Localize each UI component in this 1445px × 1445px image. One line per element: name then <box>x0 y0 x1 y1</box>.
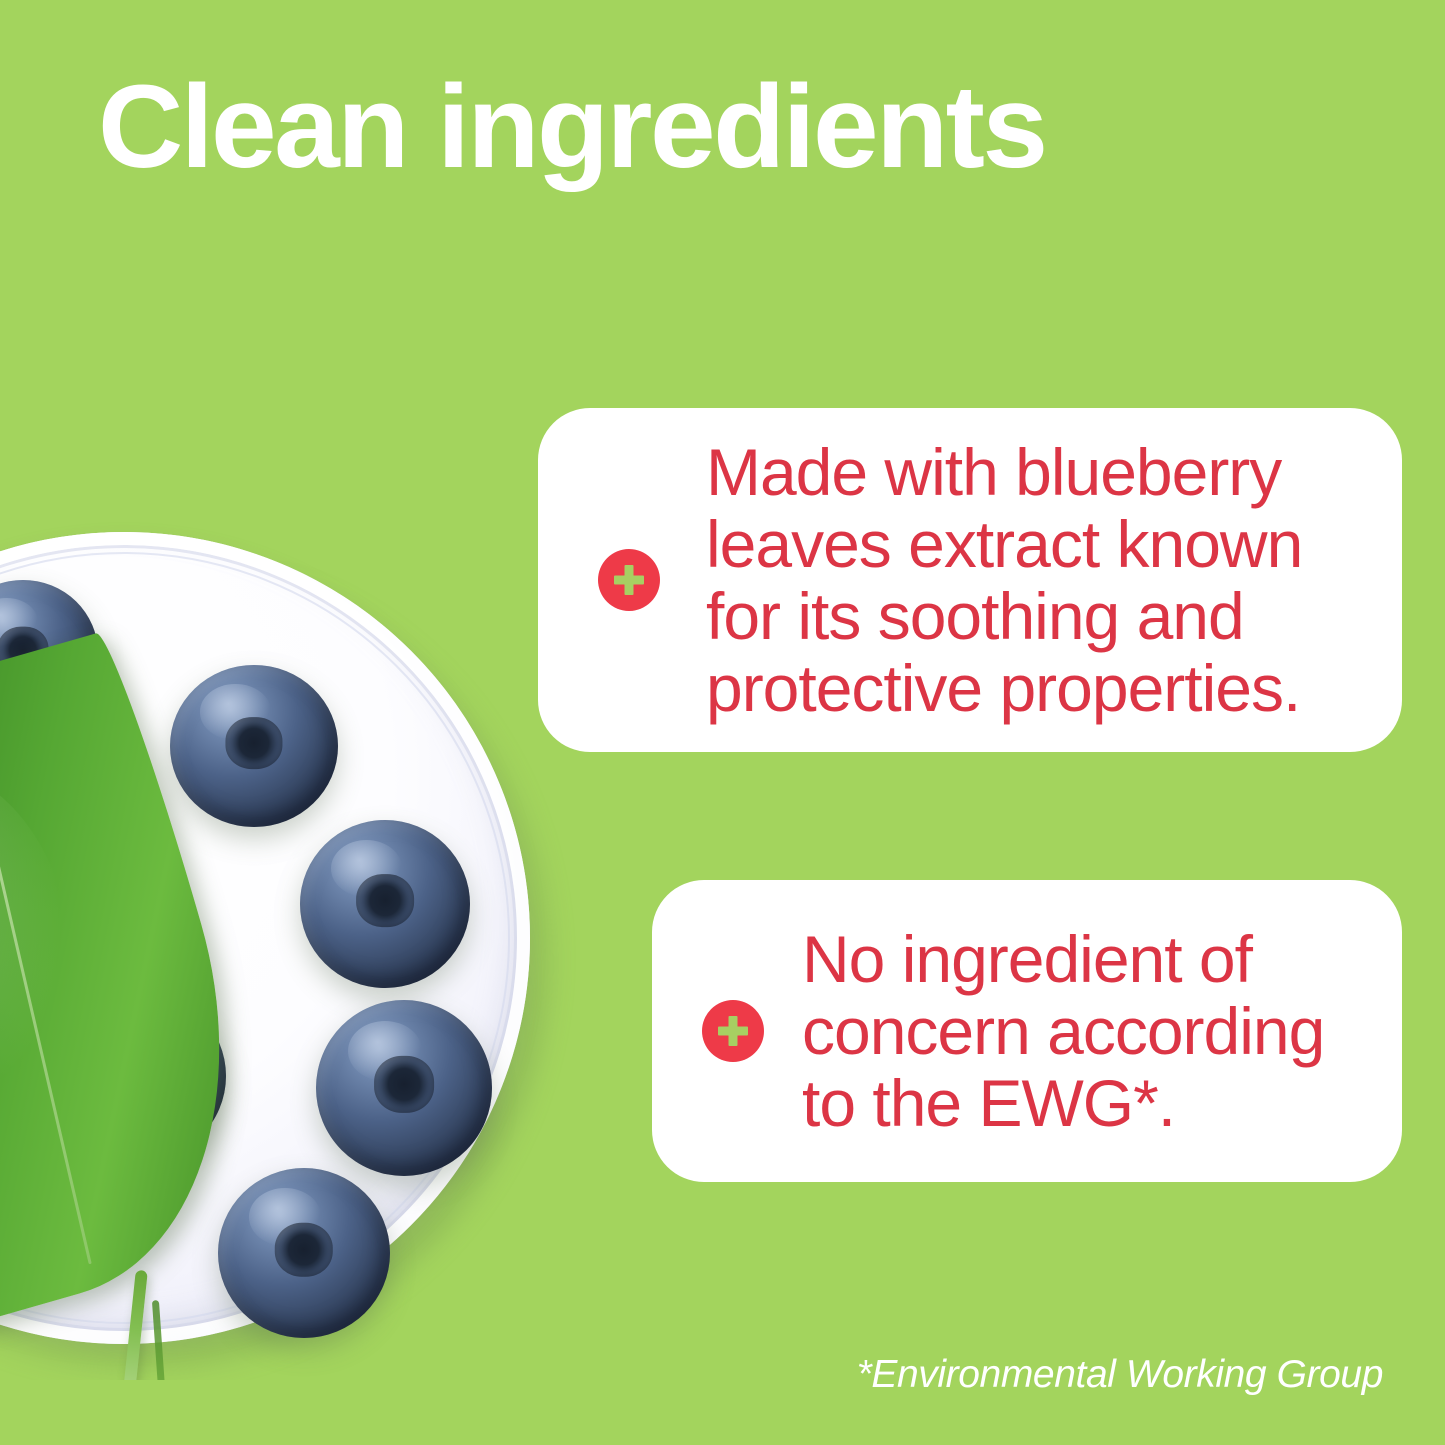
feature-card-text: No ingredient of concern according to th… <box>802 923 1368 1139</box>
footnote: *Environmental Working Group <box>857 1353 1383 1397</box>
feature-card-text: Made with blueberry leaves extract known… <box>706 436 1362 724</box>
plus-icon <box>702 1000 764 1062</box>
ingredient-photo <box>0 480 600 1380</box>
blueberry <box>218 1168 390 1338</box>
plus-icon-vertical-bar <box>625 565 634 595</box>
plus-icon <box>598 549 660 611</box>
feature-card-ewg: No ingredient of concern according to th… <box>652 880 1402 1182</box>
page-title: Clean ingredients <box>98 68 1046 186</box>
promo-graphic: Clean ingredients Made with blueberry le… <box>0 0 1445 1445</box>
blueberry <box>300 820 470 988</box>
feature-card-blueberry-extract: Made with blueberry leaves extract known… <box>538 408 1402 752</box>
blueberry <box>170 665 338 827</box>
blueberry <box>316 1000 492 1176</box>
plus-icon-vertical-bar <box>729 1016 738 1046</box>
